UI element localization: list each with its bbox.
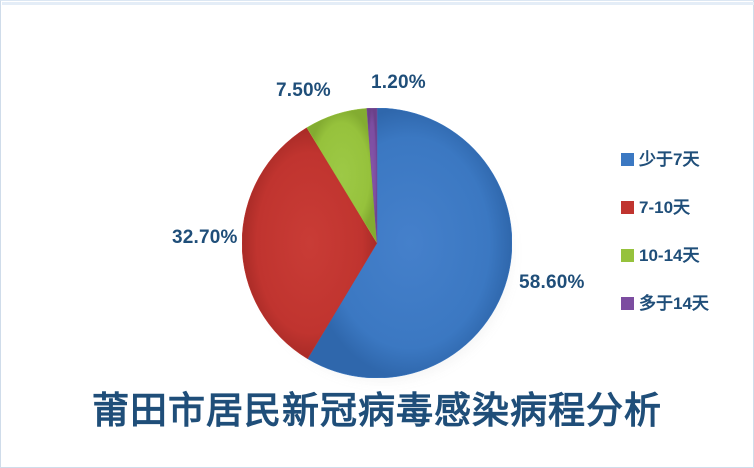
- legend-label-less-than-7-days: 少于7天: [639, 151, 699, 168]
- legend-swatch-purple-icon: [621, 297, 634, 310]
- legend-swatch-green-icon: [621, 249, 634, 262]
- data-label-7-to-10-days: 32.70%: [172, 227, 238, 249]
- legend-item-10-to-14-days[interactable]: 10-14天: [621, 231, 741, 279]
- legend-swatch-red-icon: [621, 201, 634, 214]
- slide-border-top-band: [2, 2, 754, 5]
- legend-label-10-to-14-days: 10-14天: [639, 247, 699, 264]
- legend-item-7-to-10-days[interactable]: 7-10天: [621, 183, 741, 231]
- legend-label-7-to-10-days: 7-10天: [639, 199, 690, 216]
- chart-canvas: 58.60% 32.70% 7.50% 1.20% 少于7天 7-10天 10-…: [0, 0, 754, 468]
- chart-title: 莆田市居民新冠病毒感染病程分析: [0, 380, 754, 434]
- legend-swatch-blue-icon: [621, 153, 634, 166]
- legend-item-less-than-7-days[interactable]: 少于7天: [621, 135, 741, 183]
- legend-label-more-than-14-days: 多于14天: [639, 295, 709, 312]
- pie-svg: [242, 108, 512, 378]
- pie-chart: [242, 108, 512, 378]
- legend-item-more-than-14-days[interactable]: 多于14天: [621, 279, 741, 327]
- data-label-10-to-14-days: 7.50%: [276, 80, 331, 102]
- chart-legend: 少于7天 7-10天 10-14天 多于14天: [621, 135, 741, 327]
- pie-slice-group: [242, 108, 512, 378]
- data-label-more-than-14-days: 1.20%: [371, 72, 426, 94]
- data-label-less-than-7-days: 58.60%: [519, 272, 585, 294]
